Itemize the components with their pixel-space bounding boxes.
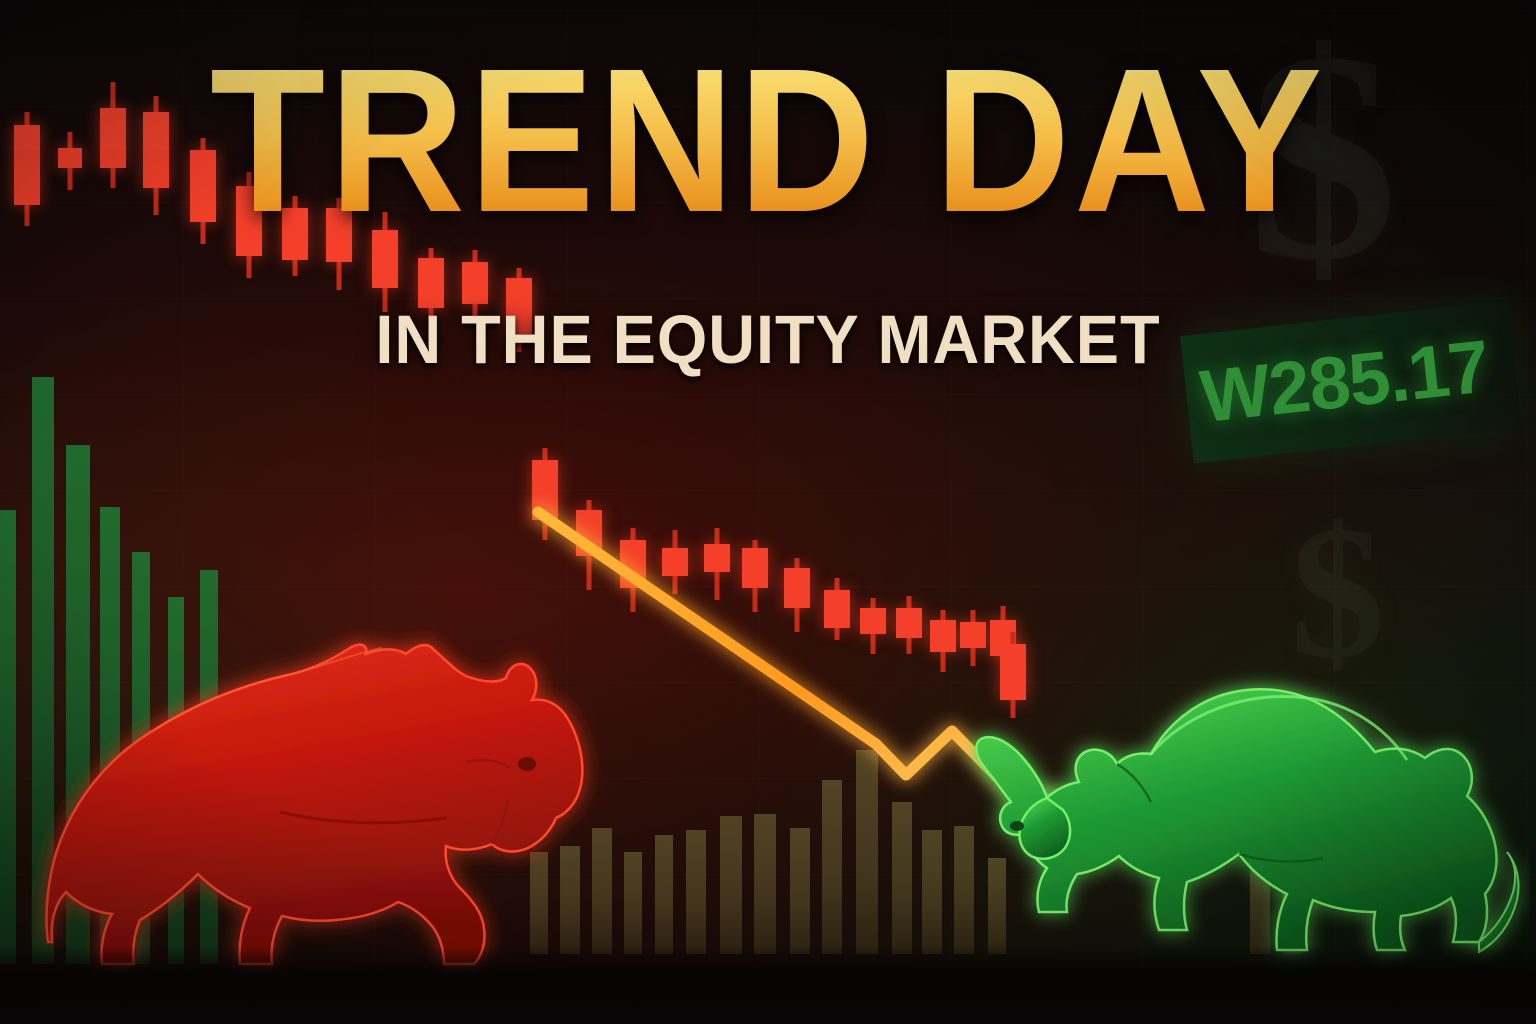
page-subtitle: IN THE EQUITY MARKET [46,300,1490,379]
poster-canvas: $ $ [0,0,1536,1024]
floor-shadow [0,946,1536,1024]
page-title: TREND DAY [61,44,1474,239]
bear-figure [30,612,650,992]
bull-figure [955,650,1530,980]
